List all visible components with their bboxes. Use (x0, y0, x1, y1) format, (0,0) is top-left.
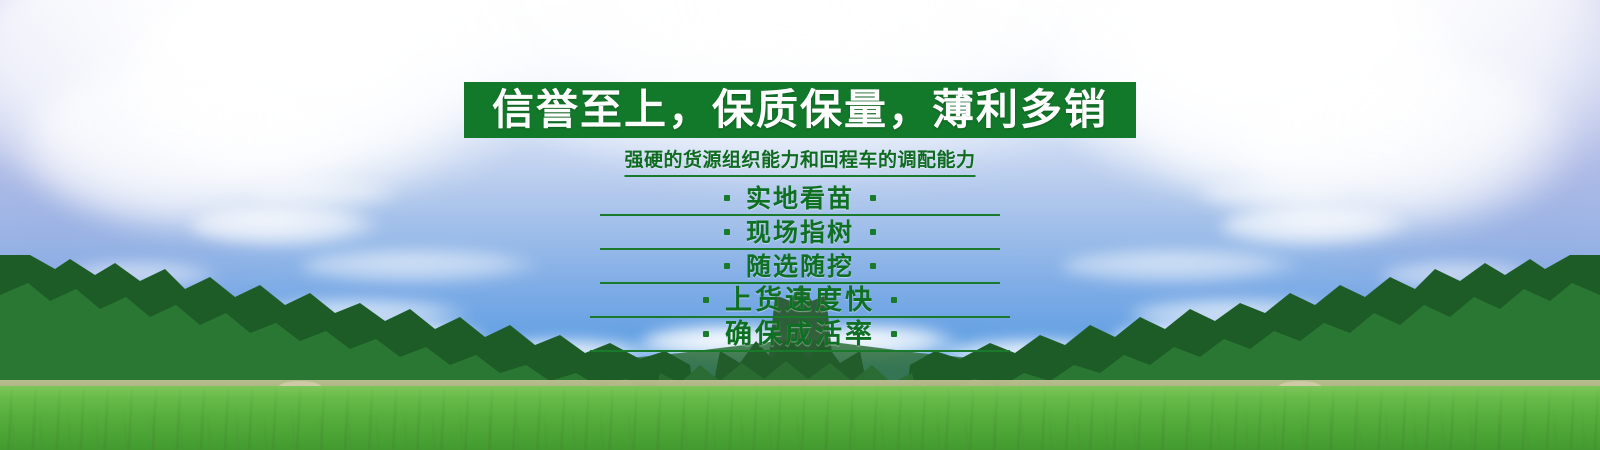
bullet-dot-icon (891, 297, 897, 303)
feature-label: 现场指树 (746, 220, 854, 245)
feature-item-2: 现场指树 (600, 216, 1000, 250)
feature-item-3: 随选随挖 (600, 250, 1000, 284)
bullet-dot-icon (870, 263, 876, 269)
feature-item-4: 上货速度快 (590, 284, 1010, 318)
feature-item-5: 确保成活率 (590, 318, 1010, 352)
feature-label: 实地看苗 (746, 186, 854, 211)
feature-label: 上货速度快 (725, 287, 875, 314)
headline-bar: 信誉至上，保质保量，薄利多销 (464, 82, 1136, 138)
cloud-icon (1200, 180, 1350, 210)
feature-list: 实地看苗 现场指树 随选随挖 上货速度快 确保成活率 (600, 182, 1000, 352)
bullet-dot-icon (870, 229, 876, 235)
cloud-icon (190, 206, 380, 248)
feature-item-1: 实地看苗 (600, 182, 1000, 216)
cloud-icon (250, 180, 400, 210)
bullet-dot-icon (703, 331, 709, 337)
crop-rows-secondary (0, 408, 1600, 450)
feature-label: 随选随挖 (746, 254, 854, 279)
bullet-dot-icon (724, 263, 730, 269)
cloud-icon (1220, 206, 1410, 248)
headline-text: 信誉至上，保质保量，薄利多销 (492, 89, 1108, 131)
subtitle-text: 强硬的货源组织能力和回程车的调配能力 (624, 145, 975, 177)
bullet-dot-icon (724, 229, 730, 235)
bullet-dot-icon (891, 331, 897, 337)
bullet-dot-icon (870, 195, 876, 201)
feature-label: 确保成活率 (725, 321, 875, 348)
promo-banner: 信誉至上，保质保量，薄利多销 强硬的货源组织能力和回程车的调配能力 实地看苗 现… (0, 0, 1600, 450)
bullet-dot-icon (724, 195, 730, 201)
bullet-dot-icon (703, 297, 709, 303)
